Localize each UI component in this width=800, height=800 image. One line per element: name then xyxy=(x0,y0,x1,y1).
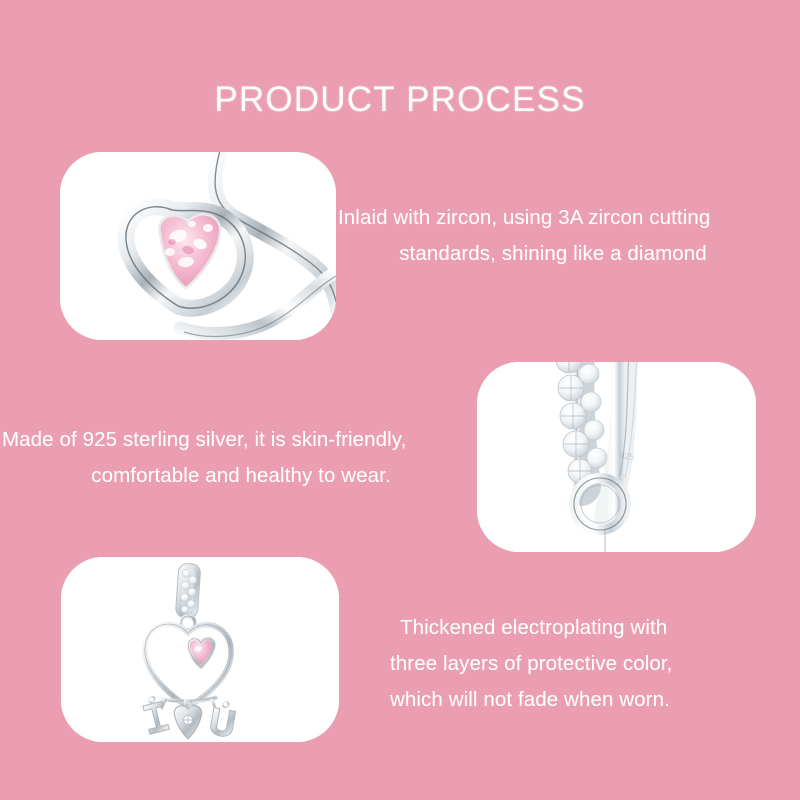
svg-text:925: 925 xyxy=(619,450,635,462)
feature-text-sterling-silver: Made of 925 sterling silver, it is skin-… xyxy=(2,422,480,494)
feature-text-electroplating-line-1: Thickened electroplating with xyxy=(372,610,792,646)
feature-text-zircon: Inlaid with zircon, using 3A zircon cutt… xyxy=(338,200,768,272)
product-photo-card-zircon xyxy=(60,152,336,340)
product-photo-card-electroplating xyxy=(61,557,339,742)
feature-text-electroplating-line-3: which will not fade when worn. xyxy=(372,682,792,718)
photo-zircon-closeup xyxy=(60,152,336,340)
feature-text-zircon-line-2: standards, shining like a diamond xyxy=(338,236,768,272)
feature-text-silver-line-2: comfortable and healthy to wear. xyxy=(2,458,480,494)
infographic-page: PRODUCT PROCESS xyxy=(0,0,800,800)
feature-text-silver-line-1: Made of 925 sterling silver, it is skin-… xyxy=(2,422,480,458)
product-photo-card-sterling-silver: 925 xyxy=(477,362,756,552)
photo-pave-bail-closeup: 925 xyxy=(477,362,756,552)
feature-text-electroplating: Thickened electroplating with three laye… xyxy=(372,610,792,718)
feature-text-zircon-line-1: Inlaid with zircon, using 3A zircon cutt… xyxy=(338,200,768,236)
page-title: PRODUCT PROCESS xyxy=(0,78,800,122)
photo-i-love-u-pendant xyxy=(61,557,339,742)
feature-text-electroplating-line-2: three layers of protective color, xyxy=(372,646,792,682)
